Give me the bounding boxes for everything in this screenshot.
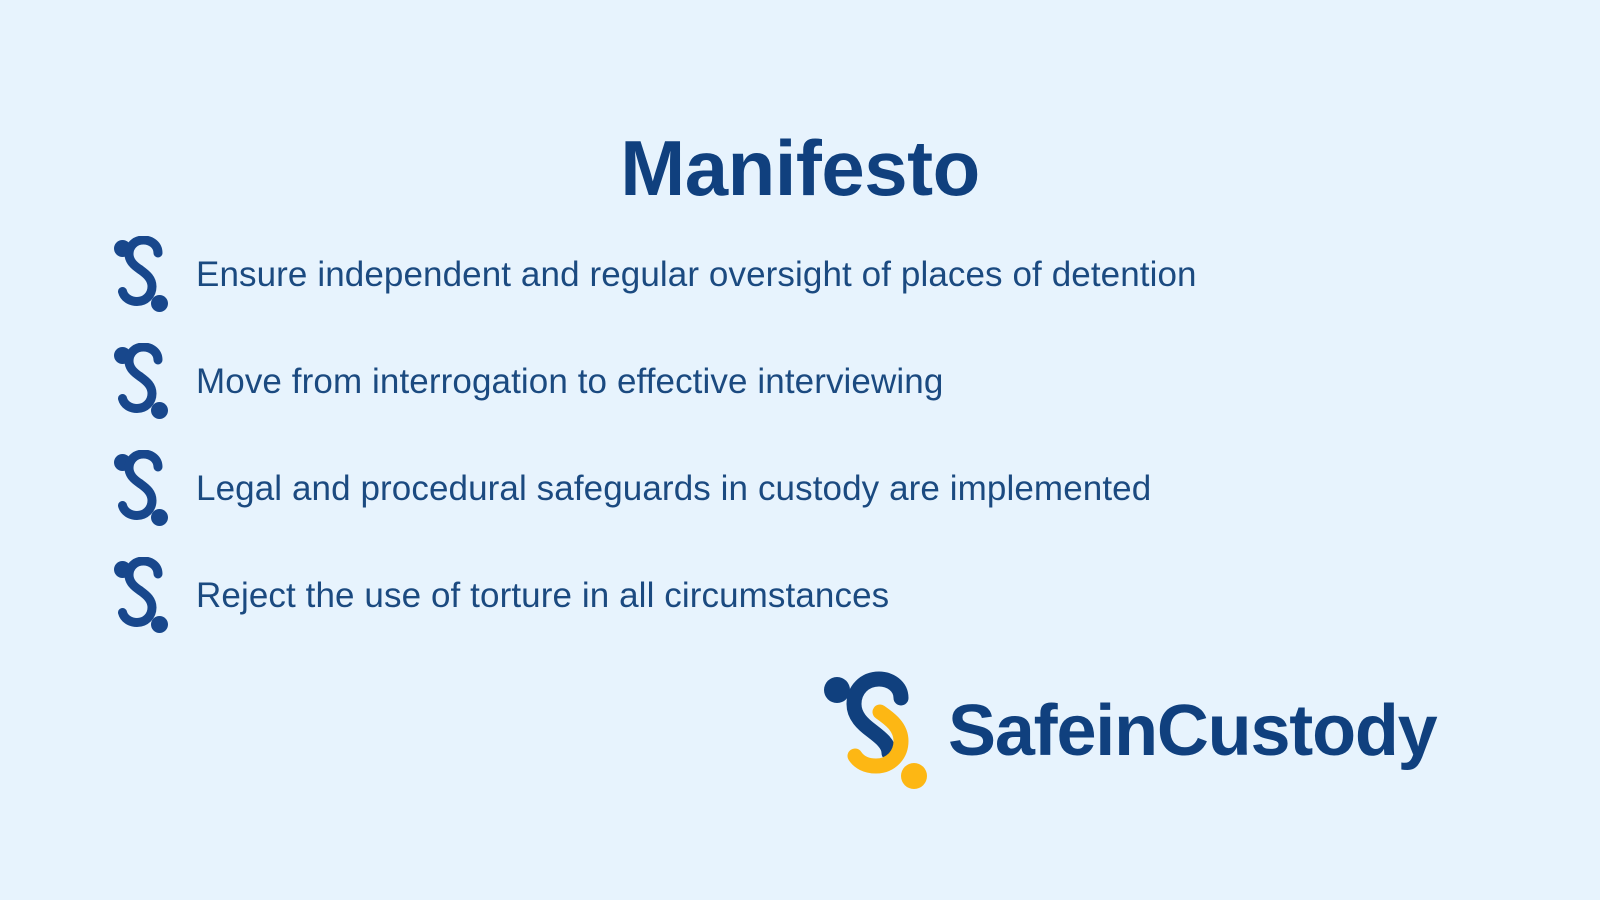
- manifesto-item-text: Reject the use of torture in all circums…: [196, 576, 889, 616]
- brand-logo: SafeinCustody: [818, 666, 1448, 796]
- safeincustody-s-mark-icon: [110, 236, 172, 316]
- manifesto-list: Ensure independent and regular oversight…: [110, 222, 1530, 650]
- list-item: Move from interrogation to effective int…: [110, 329, 1530, 436]
- manifesto-item-text: Legal and procedural safeguards in custo…: [196, 469, 1151, 509]
- list-item: Legal and procedural safeguards in custo…: [110, 436, 1530, 543]
- safeincustody-logo-mark-icon: [818, 666, 942, 796]
- safeincustody-s-mark-icon: [110, 450, 172, 530]
- slide-canvas: Manifesto Ensure independent and regular…: [0, 0, 1600, 900]
- brand-wordmark: SafeinCustody: [948, 695, 1436, 767]
- manifesto-item-text: Ensure independent and regular oversight…: [196, 255, 1197, 295]
- safeincustody-s-mark-icon: [110, 557, 172, 637]
- list-item: Ensure independent and regular oversight…: [110, 222, 1530, 329]
- list-item: Reject the use of torture in all circums…: [110, 543, 1530, 650]
- manifesto-item-text: Move from interrogation to effective int…: [196, 362, 943, 402]
- page-title: Manifesto: [0, 128, 1600, 210]
- safeincustody-s-mark-icon: [110, 343, 172, 423]
